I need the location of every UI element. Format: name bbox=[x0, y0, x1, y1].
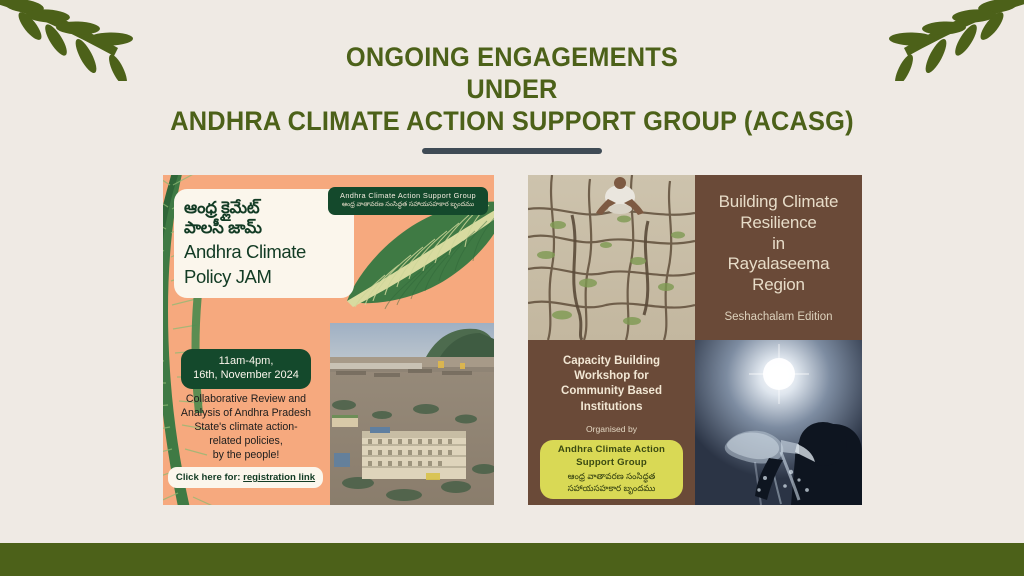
registration-link-pill[interactable]: Click here for: registration link bbox=[168, 467, 323, 488]
pill-english-line-1: Andhra Climate Action bbox=[545, 444, 678, 457]
title-line-2: UNDER bbox=[31, 74, 994, 106]
pill-telugu-line-2: సహాయసహకార బృందము bbox=[545, 483, 678, 494]
capacity-building-block: Capacity Building Workshop for Community… bbox=[528, 340, 695, 505]
title-telugu-line-1: ఆంధ్ర క్లైమేట్ bbox=[184, 198, 344, 218]
poster-policy-jam[interactable]: ఆంధ్ర క్లైమేట్ పాలసీ జామ్ Andhra Climate… bbox=[163, 175, 494, 505]
resilience-title-block: Building Climate Resilience in Rayalasee… bbox=[695, 175, 862, 340]
flood-aerial-photo bbox=[330, 323, 494, 505]
capacity-line-2: Workshop for bbox=[561, 369, 662, 384]
footer-bar bbox=[0, 543, 1024, 576]
capacity-line-1: Capacity Building bbox=[561, 354, 662, 369]
heat-person-drinking-water-photo bbox=[695, 340, 862, 505]
description-line: Analysis of Andhra Pradesh bbox=[171, 407, 321, 421]
acasg-badge-english: Andhra Climate Action Support Group bbox=[333, 191, 483, 200]
resilience-title-line-3: in bbox=[719, 234, 839, 255]
tropical-leaf-decoration-icon bbox=[339, 197, 494, 317]
capacity-line-4: Institutions bbox=[561, 400, 662, 415]
pill-telugu-line-1: ఆంధ్ర వాతావరణ సంసిద్ధత bbox=[545, 471, 678, 482]
title-english-line-2: Policy JAM bbox=[184, 266, 344, 288]
event-description: Collaborative Review and Analysis of And… bbox=[171, 393, 321, 463]
description-line: State's climate action- bbox=[171, 421, 321, 435]
event-time: 11am-4pm, bbox=[187, 354, 305, 368]
description-line: Collaborative Review and bbox=[171, 393, 321, 407]
resilience-edition: Seshachalam Edition bbox=[724, 311, 832, 323]
title-divider bbox=[422, 148, 602, 154]
resilience-title-line-5: Region bbox=[719, 275, 839, 296]
title-english-line-1: Andhra Climate bbox=[184, 241, 344, 263]
slide-canvas: ONGOING ENGAGEMENTS UNDER ANDHRA CLIMATE… bbox=[0, 0, 1024, 576]
resilience-title-line-2: Resilience bbox=[719, 213, 839, 234]
event-date: 16th, November 2024 bbox=[187, 368, 305, 382]
policy-jam-title-card: ఆంధ్ర క్లైమేట్ పాలసీ జామ్ Andhra Climate… bbox=[174, 189, 354, 298]
organised-by-label: Organised by bbox=[586, 424, 637, 434]
drought-cracked-earth-photo bbox=[528, 175, 695, 340]
description-line: related policies, bbox=[171, 435, 321, 449]
pill-english-line-2: Support Group bbox=[545, 457, 678, 470]
registration-link[interactable]: registration link bbox=[243, 472, 315, 483]
resilience-title-line-4: Rayalaseema bbox=[719, 254, 839, 275]
acasg-badge-telugu: ఆంధ్ర వాతావరణ సంసిద్ధత సహాయసహకార బృందము bbox=[333, 201, 483, 209]
acasg-yellow-pill: Andhra Climate Action Support Group ఆంధ్… bbox=[540, 440, 683, 499]
title-telugu-line-2: పాలసీ జామ్ bbox=[184, 218, 344, 238]
description-line: by the people! bbox=[171, 449, 321, 463]
capacity-line-3: Community Based bbox=[561, 384, 662, 399]
title-line-1: ONGOING ENGAGEMENTS bbox=[31, 42, 994, 74]
resilience-title-line-1: Building Climate bbox=[719, 192, 839, 213]
event-datetime-badge: 11am-4pm, 16th, November 2024 bbox=[181, 349, 311, 389]
title-line-3: ANDHRA CLIMATE ACTION SUPPORT GROUP (ACA… bbox=[31, 106, 994, 138]
acasg-org-badge: Andhra Climate Action Support Group ఆంధ్… bbox=[328, 187, 488, 215]
registration-prefix: Click here for: bbox=[176, 472, 243, 483]
page-title: ONGOING ENGAGEMENTS UNDER ANDHRA CLIMATE… bbox=[0, 42, 1024, 138]
poster-climate-resilience[interactable]: Building Climate Resilience in Rayalasee… bbox=[528, 175, 862, 505]
